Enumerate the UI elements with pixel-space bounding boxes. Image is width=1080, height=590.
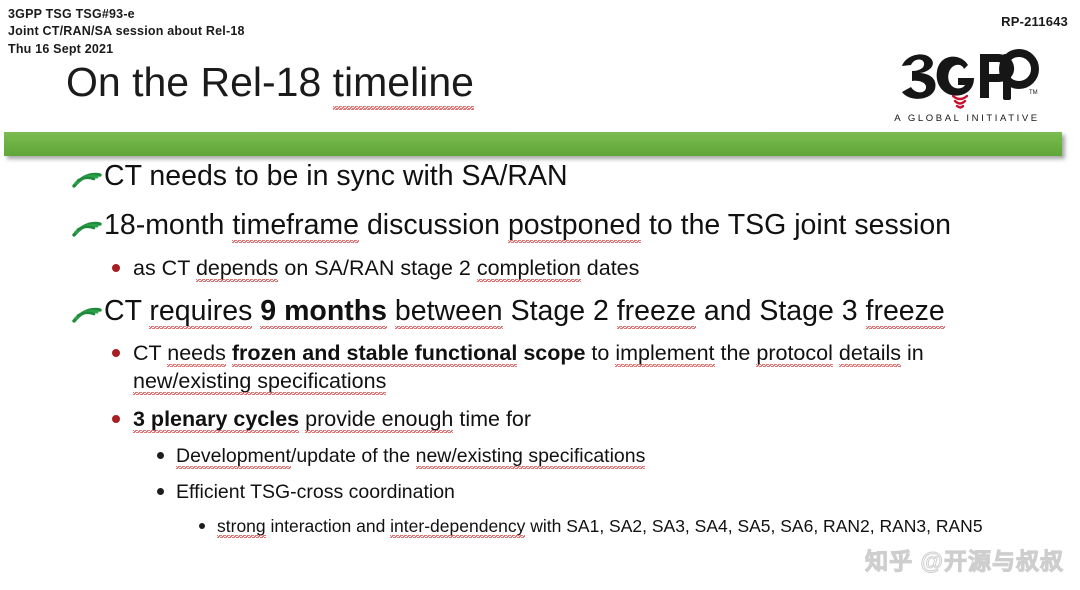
bullet3-seg8-misspelled: freeze bbox=[617, 295, 696, 327]
b3sub0-seg13: in bbox=[901, 341, 924, 365]
bullet2-seg1: 18-month bbox=[104, 209, 232, 241]
b3sub1-seg1-bold: 3 plenary cycles bbox=[133, 407, 299, 431]
b3sub0-seg12-misspelled: details bbox=[839, 341, 901, 365]
bullet-level2-item: CT needs frozen and stable functional sc… bbox=[0, 340, 1080, 396]
header-line-1: 3GPP TSG TSG#93-e bbox=[8, 6, 245, 23]
b3sub1sub1-seg1: Efficient TSG-cross coordination bbox=[176, 481, 455, 503]
b3sub0-seg1: CT bbox=[133, 341, 167, 365]
b3sub1sub0-seg1-misspelled: Development bbox=[176, 445, 291, 467]
spacer bbox=[0, 507, 1080, 515]
bullet1-text: CT needs to be in sync with SA/RAN bbox=[104, 160, 568, 192]
b4-seg3-misspelled: inter-dependency bbox=[390, 516, 525, 536]
bullet3-seg9: and Stage 3 bbox=[696, 295, 866, 327]
bullet-level3-item: Development/update of the new/existing s… bbox=[0, 444, 1080, 470]
sub-bullet-dot-icon bbox=[112, 415, 120, 423]
bullet2-seg2-misspelled: timeframe bbox=[232, 209, 359, 241]
spacer bbox=[0, 398, 1080, 406]
header-line-3: Thu 16 Sept 2021 bbox=[8, 41, 245, 58]
bullet3-seg6-misspelled: between bbox=[395, 295, 503, 327]
spacer bbox=[0, 197, 1080, 209]
document-number: RP-211643 bbox=[1001, 14, 1068, 29]
header-line-2: Joint CT/RAN/SA session about Rel-18 bbox=[8, 23, 245, 40]
watermark: 知乎 @开源与叔叔 bbox=[865, 542, 1064, 576]
logo-tagline: A GLOBAL INITIATIVE bbox=[894, 113, 1040, 124]
bullet-level2-item: as CT depends on SA/RAN stage 2 completi… bbox=[0, 255, 1080, 283]
sub-bullet-dot-icon bbox=[112, 349, 120, 357]
sub-bullet-dot-icon bbox=[157, 452, 164, 459]
bullet-level2-item: 3 plenary cycles provide enough time for bbox=[0, 406, 1080, 434]
bullet3-seg10-misspelled: freeze bbox=[866, 295, 945, 327]
bullet2-seg5: to the TSG joint session bbox=[641, 209, 951, 241]
b2sub0-seg2-misspelled: depends bbox=[196, 256, 279, 280]
b2sub0-seg4-misspelled: completion bbox=[477, 256, 581, 280]
bullet2-seg4-misspelled: postponed bbox=[508, 209, 641, 241]
bullet3-seg5 bbox=[387, 295, 395, 327]
b4-seg4: with SA1, SA2, SA3, SA4, SA5, SA6, RAN2,… bbox=[525, 516, 982, 536]
slide-header-left: 3GPP TSG TSG#93-e Joint CT/RAN/SA sessio… bbox=[8, 6, 245, 58]
sub-bullet-dot-icon bbox=[112, 264, 120, 272]
logo-signal-arcs bbox=[953, 96, 967, 108]
b3sub0-seg3 bbox=[226, 341, 232, 365]
spacer bbox=[0, 472, 1080, 480]
bullet2-seg3: discussion bbox=[359, 209, 508, 241]
b2sub0-seg3: on SA/RAN stage 2 bbox=[278, 256, 476, 280]
bullet-level1-item: 18-month timeframe discussion postponed … bbox=[0, 209, 1080, 242]
b3sub0-seg10-misspelled: protocol bbox=[756, 341, 833, 365]
b4-seg2: interaction and bbox=[266, 516, 391, 536]
spacer bbox=[0, 247, 1080, 255]
sub-bullet-dot-icon bbox=[199, 523, 205, 529]
b3sub0-seg11 bbox=[833, 341, 839, 365]
logo-trademark: TM bbox=[1029, 90, 1038, 96]
bullet-level4-item: strong interaction and inter-dependency … bbox=[0, 515, 1080, 538]
spacer bbox=[0, 436, 1080, 444]
b3sub0-seg7: to bbox=[585, 341, 615, 365]
bullet3-seg2-misspelled: requires bbox=[149, 295, 252, 327]
sub-bullet-dot-icon bbox=[157, 488, 164, 495]
b3sub1sub0-seg3-misspelled: new/existing specifications bbox=[416, 445, 646, 467]
spacer bbox=[0, 285, 1080, 295]
b3sub1sub0-seg2: /update of the bbox=[291, 445, 416, 467]
bullet-level3-item: Efficient TSG-cross coordination bbox=[0, 480, 1080, 506]
bullet-level1-item: CT requires 9 months between Stage 2 fre… bbox=[0, 295, 1080, 328]
b3sub1-seg3-misspelled: provide enough bbox=[305, 407, 453, 431]
b2sub0-seg1: as CT bbox=[133, 256, 196, 280]
b2sub0-seg5: dates bbox=[581, 256, 640, 280]
3gpp-logo: TM A GLOBAL INITIATIVE bbox=[892, 40, 1042, 126]
spacer bbox=[0, 332, 1080, 340]
b3sub1-seg4: time for bbox=[453, 407, 531, 431]
green-swoosh-icon bbox=[72, 168, 102, 190]
b3sub0-seg9: the bbox=[715, 341, 757, 365]
slide-body: CT needs to be in sync with SA/RAN 18-mo… bbox=[0, 160, 1080, 540]
title-part-2-misspelled: timeline bbox=[333, 59, 474, 105]
page-title: On the Rel-18 timeline bbox=[66, 62, 474, 103]
title-part-1: On the Rel-18 bbox=[66, 59, 333, 105]
b3sub0-seg6-bold: scope bbox=[523, 341, 585, 365]
b3sub0-seg4-bold: frozen and stable functional bbox=[232, 341, 518, 365]
bullet3-seg7: Stage 2 bbox=[503, 295, 617, 327]
bullet3-seg1: CT bbox=[104, 295, 149, 327]
bullet3-seg4-bold: 9 months bbox=[260, 295, 387, 327]
slide-canvas: 3GPP TSG TSG#93-e Joint CT/RAN/SA sessio… bbox=[0, 0, 1080, 590]
b3sub0-seg2-misspelled: needs bbox=[167, 341, 226, 365]
green-divider-bar bbox=[4, 132, 1062, 156]
green-swoosh-icon bbox=[72, 303, 102, 325]
green-swoosh-icon bbox=[72, 217, 102, 239]
b3sub0-line2-misspelled: new/existing specifications bbox=[133, 369, 386, 393]
b3sub0-seg8-misspelled: implement bbox=[615, 341, 714, 365]
b4-seg1-misspelled: strong bbox=[217, 516, 266, 536]
bullet-level1-item: CT needs to be in sync with SA/RAN bbox=[0, 160, 1080, 193]
